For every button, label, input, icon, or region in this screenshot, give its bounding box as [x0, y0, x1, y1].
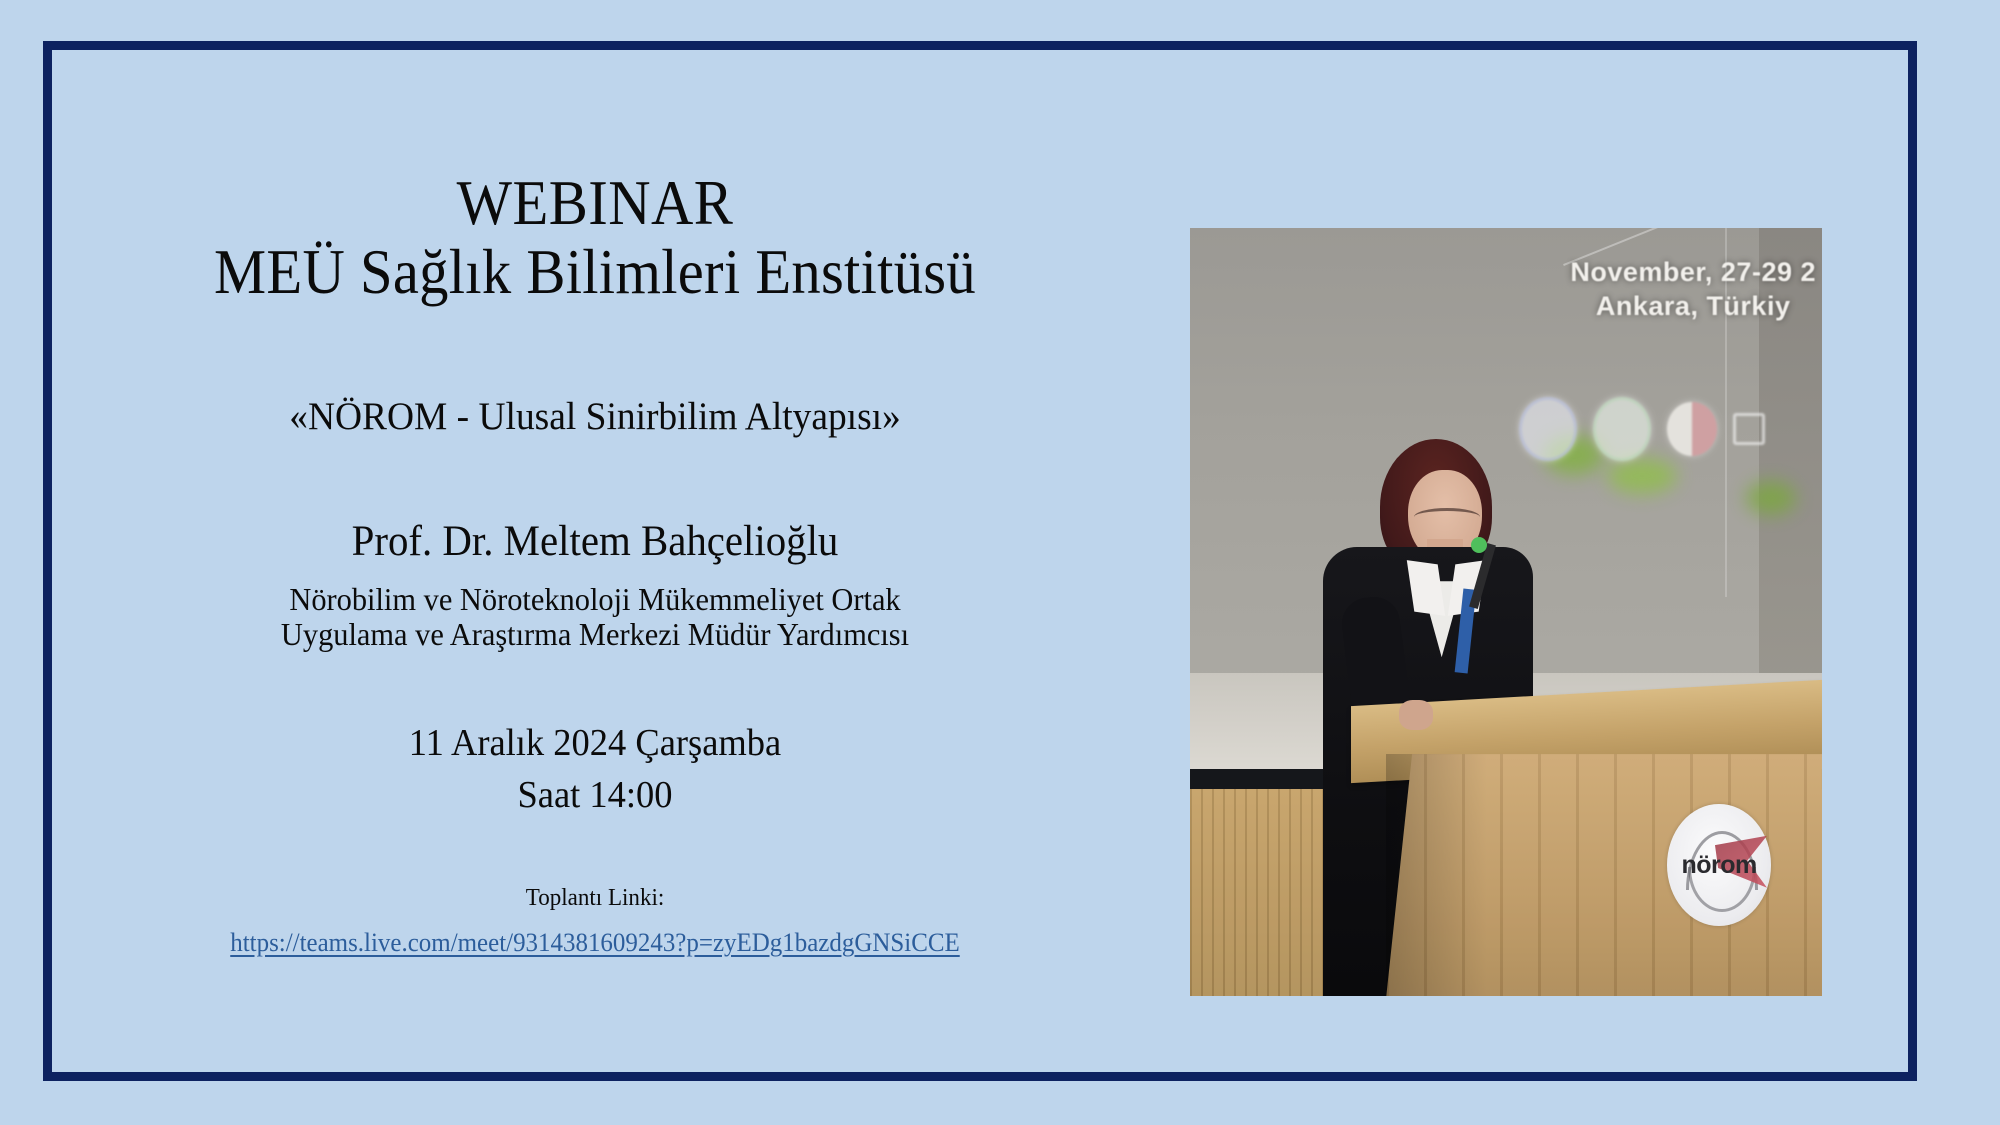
meeting-link-label: Toplantı Linki:: [81, 885, 1108, 912]
speaker-hand: [1399, 700, 1433, 730]
title-line-institute: MEÜ Sağlık Bilimleri Enstitüsü: [97, 239, 1092, 306]
speaker-affiliation: Nörobilim ve Nöroteknoloji Mükemmeliyet …: [87, 582, 1104, 654]
slide-logo-square: [1733, 413, 1765, 445]
poster-text-column: WEBINAR MEÜ Sağlık Bilimleri Enstitüsü «…: [60, 170, 1130, 958]
poster-title: WEBINAR MEÜ Sağlık Bilimleri Enstitüsü: [60, 170, 1130, 306]
slide-text-line-1: November, 27-29 2: [1570, 255, 1816, 290]
meeting-link-url[interactable]: https://teams.live.com/meet/931438160924…: [81, 928, 1108, 958]
projected-slide-text: November, 27-29 2 Ankara, Türkiy: [1570, 255, 1816, 324]
speaker-name: Prof. Dr. Meltem Bahçelioğlu: [87, 517, 1104, 566]
slide-logo-row: [1519, 397, 1765, 461]
title-line-webinar: WEBINAR: [97, 170, 1092, 237]
speaker-photo: November, 27-29 2 Ankara, Türkiy: [1190, 228, 1822, 996]
affiliation-line-1: Nörobilim ve Nöroteknoloji Mükemmeliyet …: [87, 582, 1104, 618]
event-time: Saat 14:00: [81, 773, 1108, 817]
webinar-poster: WEBINAR MEÜ Sağlık Bilimleri Enstitüsü «…: [0, 0, 2000, 1125]
speaker-glasses: [1414, 508, 1480, 526]
webinar-topic: «NÖROM - Ulusal Sinirbilim Altyapısı»: [81, 394, 1108, 439]
microphone-led: [1471, 537, 1487, 553]
slide-text-line-2: Ankara, Türkiy: [1570, 289, 1816, 324]
slide-logo-circle-blue: [1519, 397, 1577, 461]
slide-logo-circle-green: [1593, 397, 1651, 461]
affiliation-line-2: Uygulama ve Araştırma Merkezi Müdür Yard…: [87, 617, 1104, 653]
podium-side-shadow: [1386, 754, 1487, 996]
podium-norom-logo: nörom: [1667, 804, 1771, 926]
slide-logo-flag-circle: [1667, 402, 1717, 456]
podium-logo-text: nörom: [1682, 851, 1757, 880]
event-date: 11 Aralık 2024 Çarşamba: [81, 721, 1108, 765]
